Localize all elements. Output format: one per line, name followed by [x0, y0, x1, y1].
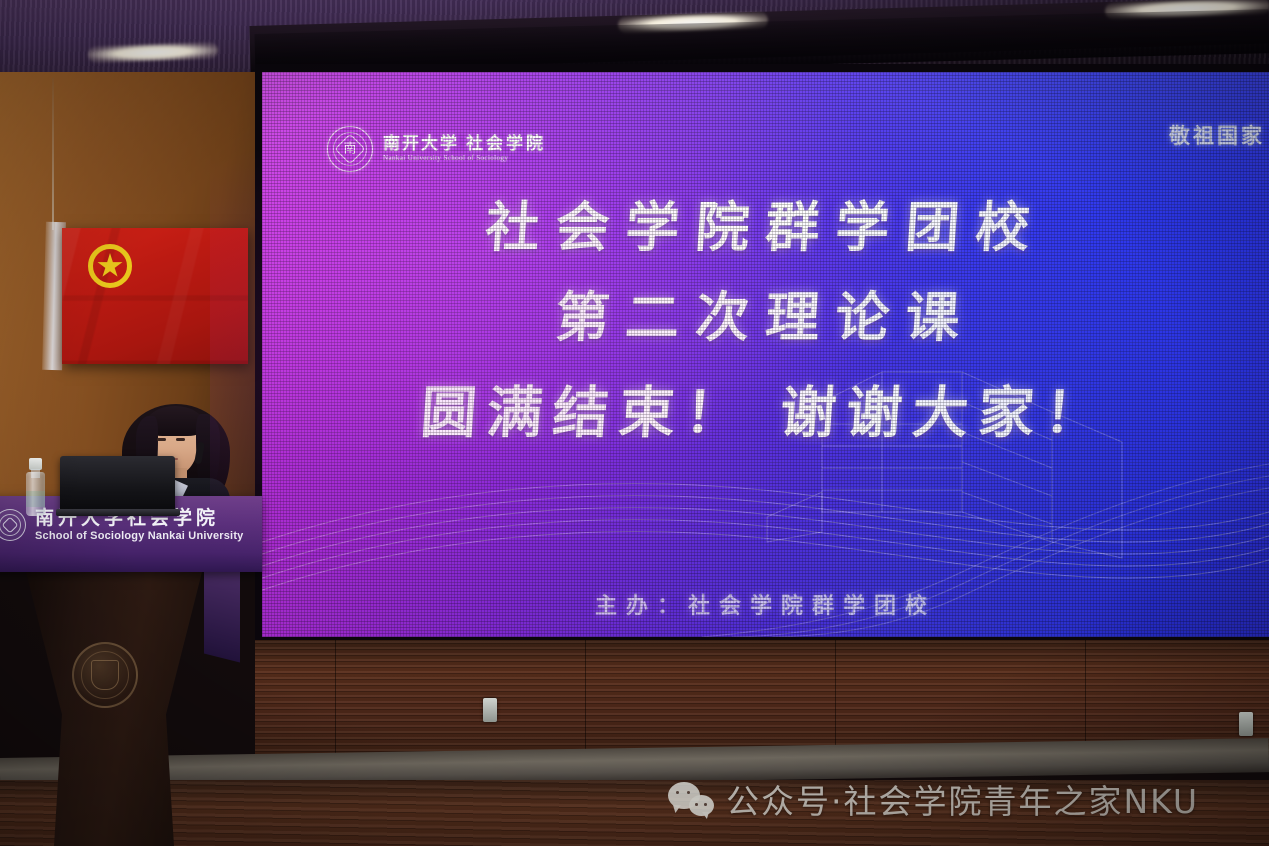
wall-switch-plate[interactable] — [483, 698, 497, 722]
presenter-eye — [176, 438, 185, 441]
screenshot-scene: 南 南开大学社会学院 Nankai University School of S… — [0, 0, 1269, 846]
flag-star-icon — [97, 253, 123, 279]
laptop-base — [56, 509, 180, 516]
wall-seam — [835, 640, 836, 758]
podium-column — [14, 572, 214, 846]
flag-emblem-ring-icon — [88, 244, 132, 288]
bottle-label — [26, 491, 45, 507]
wechat-watermark: 公众号·社会学院青年之家NKU — [668, 775, 1199, 823]
laptop[interactable] — [60, 456, 175, 512]
flag-cord — [52, 78, 54, 230]
podium-side-panel — [204, 562, 240, 663]
wechat-icon — [668, 782, 714, 816]
flag-field — [62, 228, 248, 364]
bottle-body — [26, 472, 45, 516]
led-screen: 南 南开大学社会学院 Nankai University School of S… — [262, 72, 1269, 637]
youth-league-flag — [62, 228, 248, 364]
podium: 南开大学社会学院 School of Sociology Nankai Univ… — [0, 496, 262, 846]
presenter-eye — [157, 438, 166, 441]
watermark-text: 公众号·社会学院青年之家NKU — [726, 775, 1199, 823]
flag-folds — [62, 228, 248, 364]
podium-seal-icon — [0, 509, 26, 541]
led-scanlines — [262, 72, 1269, 637]
wall-seam — [585, 640, 586, 758]
university-crest-icon — [72, 642, 138, 708]
water-bottle[interactable] — [26, 458, 45, 516]
wall-switch-plate[interactable] — [1239, 712, 1253, 736]
wall-seam — [335, 640, 336, 758]
podium-sign-english: School of Sociology Nankai University — [35, 530, 244, 542]
